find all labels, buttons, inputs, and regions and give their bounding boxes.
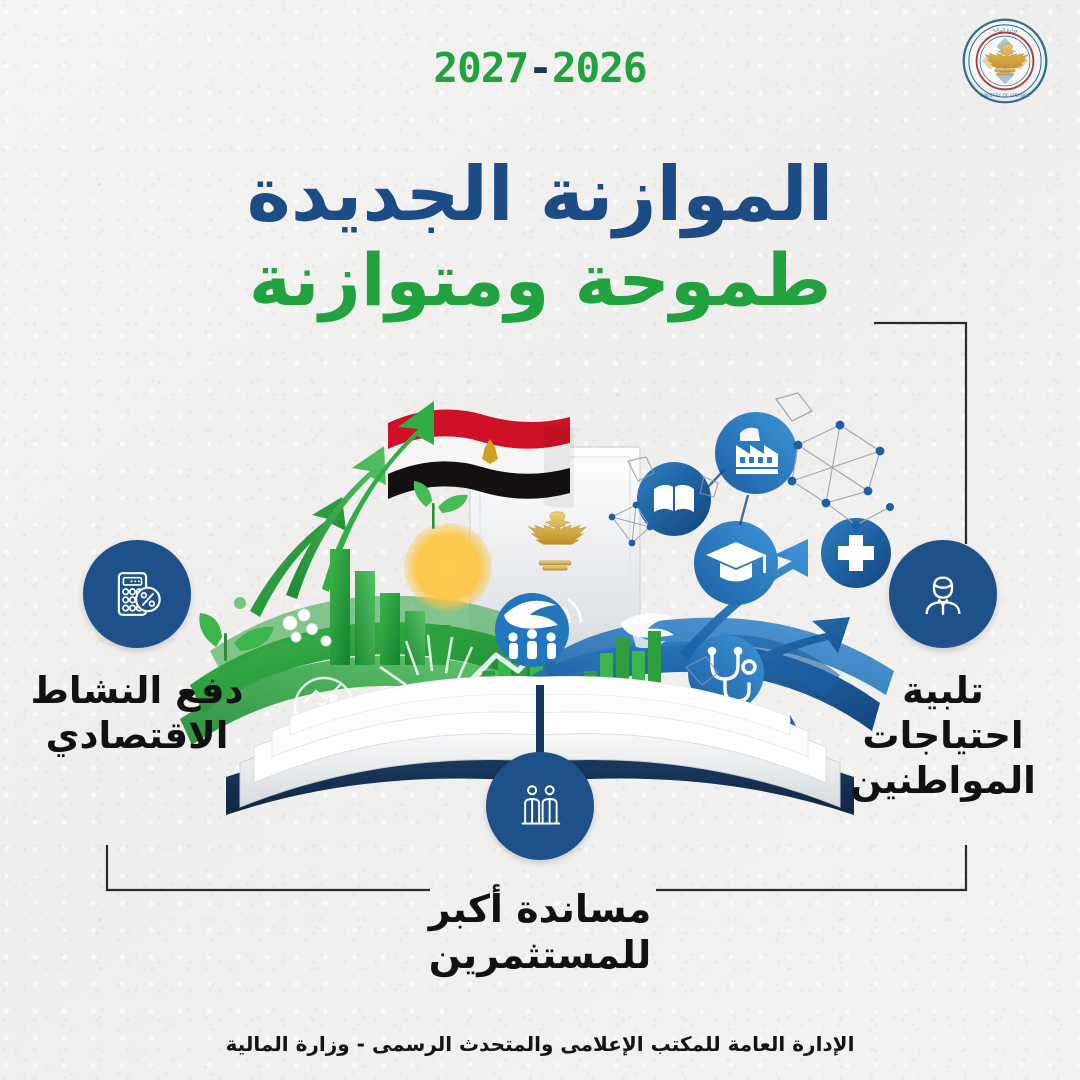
pillar-investor-support[interactable]: مساندة أكبر للمستثمرين [340,752,740,979]
svg-text:وزارة المالية: وزارة المالية [993,27,1018,33]
network-nodes [792,425,890,525]
pillar-investors-label: مساندة أكبر للمستثمرين [340,886,740,979]
footer-attribution: الإدارة العامة للمكتب الإعلامى والمتحدث … [226,1032,855,1056]
budget-year-badge: 2027-2026 [0,44,1080,92]
title-line-secondary: طموحة ومتوازنة [0,238,1080,323]
year-separator: - [528,44,552,92]
pillar-economic-icon-circle[interactable] [83,540,191,648]
year-start: 2027 [433,44,528,92]
title-line-primary: الموازنة الجديدة [0,152,1080,236]
person-icon [914,565,972,623]
pillar-citizens-icon-circle[interactable] [889,540,997,648]
pillar-citizen-needs[interactable]: تلبية احتياجات المواطنين [818,540,1068,803]
ministry-of-finance-logo: وزارة المالية MINISTRY OF FINANCE [962,18,1048,104]
pillar-investors-icon-circle[interactable] [486,752,594,860]
year-end: 2026 [552,44,647,92]
pillar-economic-label: دفع النشاط الاقتصادي [12,668,262,758]
page-title: الموازنة الجديدة طموحة ومتوازنة [0,152,1080,323]
infographic-canvas: 2027-2026 [0,0,1080,1080]
pillar-citizens-label: تلبية احتياجات المواطنين [818,668,1068,803]
calculator-percent-icon [108,565,166,623]
two-businessmen-icon [512,778,568,834]
pillar-economic-activity[interactable]: دفع النشاط الاقتصادي [12,540,262,758]
graduation-cap-icon-bubble [694,521,778,605]
footer-bar: الإدارة العامة للمكتب الإعلامى والمتحدث … [0,1032,1080,1056]
factory-icon-bubble [715,412,797,494]
svg-text:MINISTRY OF FINANCE: MINISTRY OF FINANCE [980,93,1030,98]
